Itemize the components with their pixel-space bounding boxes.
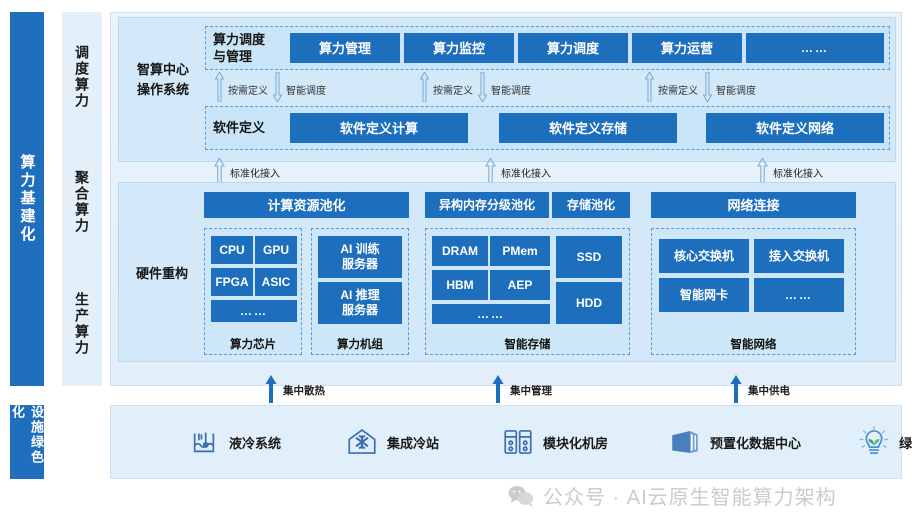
sdx-item-network-label: 软件定义网络: [756, 121, 834, 136]
standard-access-label-2: 标准化接入: [501, 165, 551, 180]
tile-ssd-label: SSD: [577, 250, 602, 265]
facility-panel: 液冷系统 集成冷站 模块化机房 预置化数据中心: [110, 405, 902, 479]
standard-access-label-1: 标准化接入: [230, 165, 280, 180]
tile-ai-training-server-line2: 服务器: [342, 257, 378, 272]
tile-gpu[interactable]: GPU: [255, 236, 297, 264]
tile-gpu-label: GPU: [263, 243, 289, 258]
arrow-down-icon: [478, 72, 487, 102]
watermark-text: 公众号 · AI云原生智能算力架构: [543, 481, 837, 510]
facility-item-modular-room[interactable]: 模块化机房: [501, 425, 608, 459]
scheduling-item-more[interactable]: ……: [746, 33, 884, 63]
arrow-up-icon: [420, 72, 429, 102]
sdx-item-network[interactable]: 软件定义网络: [706, 113, 884, 143]
tile-pmem[interactable]: PMem: [490, 236, 550, 266]
arrow-down-icon: [273, 72, 282, 102]
scheduling-item-dispatch[interactable]: 算力调度: [518, 33, 628, 63]
tile-hdd[interactable]: HDD: [556, 282, 622, 324]
standard-access-arrow-icon-2: [485, 158, 496, 184]
facility-item-liquid-cooling-label: 液冷系统: [229, 433, 281, 452]
tile-core-switch[interactable]: 核心交换机: [659, 239, 749, 273]
banner-green-facility-label: 设施绿色化: [8, 405, 46, 479]
pool-header-compute-label: 计算资源池化: [267, 198, 345, 213]
facility-item-liquid-cooling[interactable]: 液冷系统: [187, 425, 281, 459]
tile-cpu-label: CPU: [219, 243, 244, 258]
subgroup-caption-smart-network-text: 智能网络: [731, 339, 777, 351]
scheduling-item-dispatch-label: 算力调度: [547, 41, 599, 56]
arrow-label-on-demand-2: 按需定义: [433, 82, 473, 97]
liquid-cooling-icon: [187, 425, 221, 459]
stage-label-scheduling: 调度算力: [62, 12, 102, 142]
tile-network-more[interactable]: ……: [754, 278, 844, 312]
stage-label-production: 生产算力: [62, 262, 102, 386]
scheduling-item-monitoring[interactable]: 算力监控: [404, 33, 514, 63]
subgroup-caption-smart-storage: 智能存储: [425, 336, 630, 352]
tile-dram[interactable]: DRAM: [432, 236, 488, 266]
tile-network-more-label: ……: [785, 288, 813, 303]
facility-item-green-power[interactable]: 绿色供电设施: [857, 425, 912, 459]
facility-item-chiller-station-label: 集成冷站: [387, 433, 439, 452]
tile-ai-inference-server-line1: AI 推理: [340, 288, 379, 303]
facility-arrow-power-icon: [730, 375, 742, 403]
tile-core-switch-label: 核心交换机: [674, 249, 734, 264]
green-power-icon: [857, 425, 891, 459]
tile-hbm-label: HBM: [446, 278, 473, 293]
tile-aep-label: AEP: [508, 278, 533, 293]
arrow-group-3: 按需定义 智能调度: [645, 72, 865, 104]
arrow-label-on-demand-3: 按需定义: [658, 82, 698, 97]
scheduling-item-management[interactable]: 算力管理: [290, 33, 400, 63]
stage-label-aggregation-text: 聚合算力: [72, 170, 92, 234]
subgroup-caption-compute-chip: 算力芯片: [204, 336, 302, 352]
arrow-up-icon: [645, 72, 654, 102]
os-panel-label-line2: 操作系统: [124, 80, 202, 100]
chiller-station-icon: [345, 425, 379, 459]
tile-fpga-label: FPGA: [215, 275, 248, 290]
arrow-label-on-demand-1: 按需定义: [228, 82, 268, 97]
tile-ai-training-server[interactable]: AI 训练 服务器: [318, 236, 402, 278]
scheduling-item-monitoring-label: 算力监控: [433, 41, 485, 56]
facility-item-prefab-datacenter[interactable]: 预置化数据中心: [668, 425, 801, 459]
tile-smart-nic-label: 智能网卡: [680, 288, 728, 303]
facility-item-modular-room-label: 模块化机房: [543, 433, 608, 452]
tile-hdd-label: HDD: [576, 296, 602, 311]
tile-ai-inference-server[interactable]: AI 推理 服务器: [318, 282, 402, 324]
tile-cpu[interactable]: CPU: [211, 236, 253, 264]
tile-smart-nic[interactable]: 智能网卡: [659, 278, 749, 312]
arrow-group-2: 按需定义 智能调度: [420, 72, 640, 104]
wechat-icon: [508, 485, 534, 507]
os-panel-label-line1: 智算中心: [124, 60, 202, 80]
subgroup-caption-smart-network: 智能网络: [651, 336, 856, 352]
subgroup-caption-compute-chip-text: 算力芯片: [230, 339, 276, 351]
tile-asic-label: ASIC: [262, 275, 291, 290]
standard-access-arrow-icon-1: [214, 158, 225, 184]
tile-access-switch-label: 接入交换机: [769, 249, 829, 264]
modular-room-icon: [501, 425, 535, 459]
pool-header-memory-label: 异构内存分级池化: [439, 198, 535, 213]
scheduling-band-title: 算力调度 与管理: [213, 31, 283, 65]
tile-fpga[interactable]: FPGA: [211, 268, 253, 296]
arrow-label-smart-dispatch-1: 智能调度: [286, 82, 326, 97]
hardware-panel-label: 硬件重构: [124, 263, 200, 282]
scheduling-band-title-line2: 与管理: [213, 48, 283, 65]
subgroup-caption-smart-storage-text: 智能存储: [505, 339, 551, 351]
stage-label-scheduling-text: 调度算力: [72, 45, 92, 109]
facility-arrow-management-label: 集中管理: [510, 383, 552, 398]
tile-asic[interactable]: ASIC: [255, 268, 297, 296]
tile-hbm[interactable]: HBM: [432, 270, 488, 300]
hardware-panel-label-text: 硬件重构: [136, 266, 188, 281]
stage-label-production-text: 生产算力: [72, 292, 92, 356]
banner-green-facility: 设施绿色化: [10, 405, 44, 479]
tile-chip-more-label: ……: [240, 304, 268, 319]
pool-header-compute[interactable]: 计算资源池化: [204, 192, 409, 218]
prefab-datacenter-icon: [668, 425, 702, 459]
sdx-item-compute[interactable]: 软件定义计算: [290, 113, 468, 143]
standard-access-arrow-icon-3: [757, 158, 768, 184]
scheduling-item-management-label: 算力管理: [319, 41, 371, 56]
subgroup-caption-compute-cluster-text: 算力机组: [337, 339, 383, 351]
pool-header-network-label: 网络连接: [727, 198, 779, 213]
facility-arrow-cooling-label: 集中散热: [283, 383, 325, 398]
scheduling-band-title-line1: 算力调度: [213, 31, 283, 48]
tile-aep[interactable]: AEP: [490, 270, 550, 300]
sdx-item-storage-label: 软件定义存储: [549, 121, 627, 136]
scheduling-item-operations-label: 算力运营: [661, 41, 713, 56]
watermark: 公众号 · AI云原生智能算力架构: [508, 481, 837, 510]
arrow-down-icon: [703, 72, 712, 102]
tile-pmem-label: PMem: [502, 244, 537, 259]
tile-access-switch[interactable]: 接入交换机: [754, 239, 844, 273]
scheduling-item-operations[interactable]: 算力运营: [632, 33, 742, 63]
sdx-item-storage[interactable]: 软件定义存储: [499, 113, 677, 143]
tile-dram-label: DRAM: [442, 244, 478, 259]
sdx-item-compute-label: 软件定义计算: [340, 121, 418, 136]
software-defined-band-title-text: 软件定义: [213, 119, 283, 136]
pool-header-storage-label: 存储池化: [567, 198, 615, 213]
tile-storage-more[interactable]: ……: [432, 304, 550, 324]
pool-header-memory[interactable]: 异构内存分级池化: [425, 192, 549, 218]
tile-storage-more-label: ……: [477, 307, 505, 322]
arrow-label-smart-dispatch-2: 智能调度: [491, 82, 531, 97]
banner-infrastructure-label: 算力基建化: [17, 154, 38, 244]
facility-arrow-power-label: 集中供电: [748, 383, 790, 398]
arrow-up-icon: [215, 72, 224, 102]
facility-arrow-cooling-icon: [265, 375, 277, 403]
facility-item-green-power-label: 绿色供电设施: [899, 433, 912, 452]
scheduling-item-more-label: ……: [801, 41, 829, 56]
tile-chip-more[interactable]: ……: [211, 300, 297, 322]
arrow-group-1: 按需定义 智能调度: [215, 72, 435, 104]
banner-infrastructure: 算力基建化: [10, 12, 44, 386]
facility-item-chiller-station[interactable]: 集成冷站: [345, 425, 439, 459]
standard-access-label-3: 标准化接入: [773, 165, 823, 180]
software-defined-band-title: 软件定义: [213, 119, 283, 136]
tile-ssd[interactable]: SSD: [556, 236, 622, 278]
pool-header-storage[interactable]: 存储池化: [552, 192, 630, 218]
stage-label-aggregation: 聚合算力: [62, 142, 102, 262]
subgroup-caption-compute-cluster: 算力机组: [311, 336, 409, 352]
facility-item-prefab-datacenter-label: 预置化数据中心: [710, 433, 801, 452]
os-panel-label: 智算中心 操作系统: [124, 60, 202, 100]
tile-ai-inference-server-line2: 服务器: [342, 303, 378, 318]
facility-arrow-management-icon: [492, 375, 504, 403]
pool-header-network[interactable]: 网络连接: [651, 192, 856, 218]
arrow-label-smart-dispatch-3: 智能调度: [716, 82, 756, 97]
tile-ai-training-server-line1: AI 训练: [340, 242, 379, 257]
